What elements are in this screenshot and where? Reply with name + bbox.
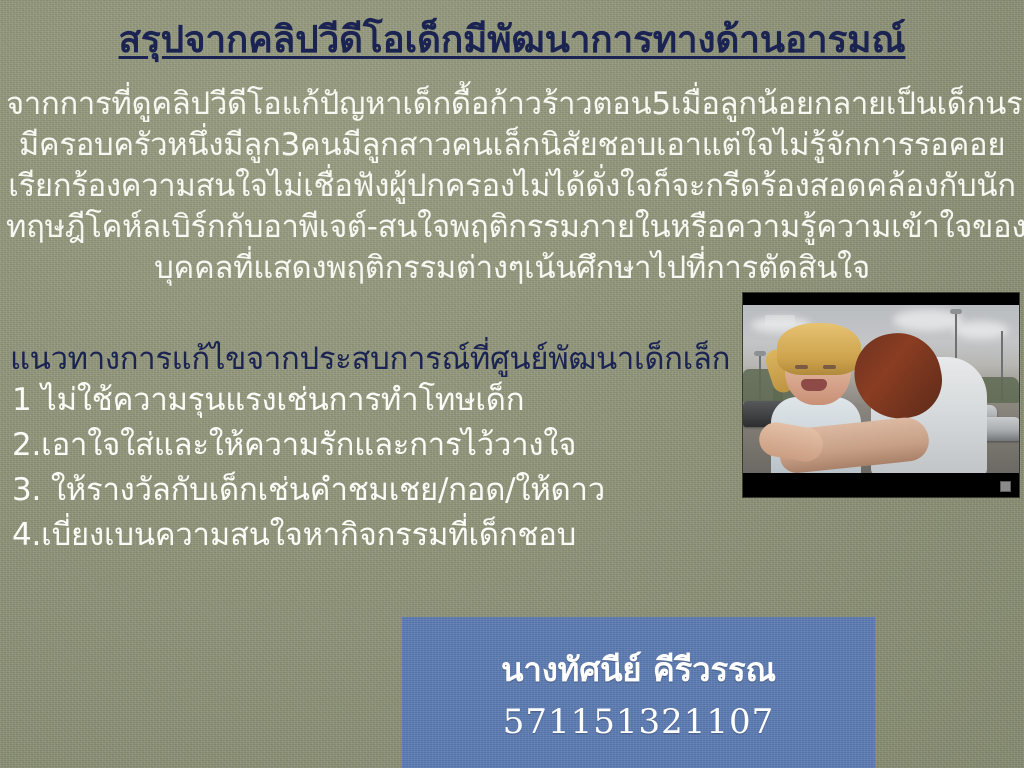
broadcast-watermark (765, 315, 795, 326)
author-student-id: 571151321107 (503, 702, 775, 742)
photo-image (743, 305, 1019, 473)
body-paragraph: จากการที่ดูคลิปวีดีโอแก้ปัญหาเด็กดื้อก้า… (6, 84, 1018, 289)
child-crying-mouth (801, 379, 827, 391)
light-pole-head (950, 309, 962, 314)
body-line: ทฤษฎีโคห์ลเบิร์กกับอาพีเจต์-สนใจพฤติกรรม… (6, 207, 1018, 248)
presentation-slide: สรุปจากคลิปวีดีโอเด็กมีพัฒนาการทางด้านอา… (0, 0, 1024, 768)
list-item: 2.เอาใจใส่และให้ความรักและการไว้วางใจ (12, 423, 732, 468)
solutions-heading: แนวทางการแก้ไขจากประสบการณ์ที่ศูนย์พัฒนา… (10, 333, 730, 383)
list-item: 1 ไม่ใช้ความรุนแรงเช่นการทำโทษเด็ก (12, 378, 732, 423)
slide-title: สรุปจากคลิปวีดีโอเด็กมีพัฒนาการทางด้านอา… (0, 20, 1024, 61)
signature-box: นางทัศนีย์ คีรีวรรณ 571151321107 (402, 617, 875, 768)
body-line: เรียกร้องความสนใจไม่เชื่อฟังผู้ปกครองไม่… (6, 166, 1018, 207)
child-eye (823, 365, 836, 369)
body-line: มีครอบครัวหนึ่งมีลูก3คนมีลูกสาวคนเล็กนิส… (6, 125, 1018, 166)
author-name: นางทัศนีย์ คีรีวรรณ (501, 643, 776, 696)
solutions-list: 1 ไม่ใช้ความรุนแรงเช่นการทำโทษเด็ก 2.เอา… (12, 378, 732, 558)
video-player-badge-icon (1000, 481, 1011, 492)
list-item: 3. ให้รางวัลกับเด็กเช่นคำชมเชย/กอด/ให้ดา… (12, 468, 732, 513)
list-item: 4.เบี่ยงเบนความสนใจหากิจกรรมที่เด็กชอบ (12, 513, 732, 558)
light-pole-head (754, 351, 766, 356)
body-line: จากการที่ดูคลิปวีดีโอแก้ปัญหาเด็กดื้อก้า… (6, 84, 1018, 125)
child-hair (777, 323, 861, 375)
body-line: บุคคลที่แสดงพฤติกรรมต่างๆเน้นศึกษาไปที่ก… (6, 248, 1018, 289)
video-still-photo (742, 292, 1020, 498)
child-eye (795, 365, 808, 369)
